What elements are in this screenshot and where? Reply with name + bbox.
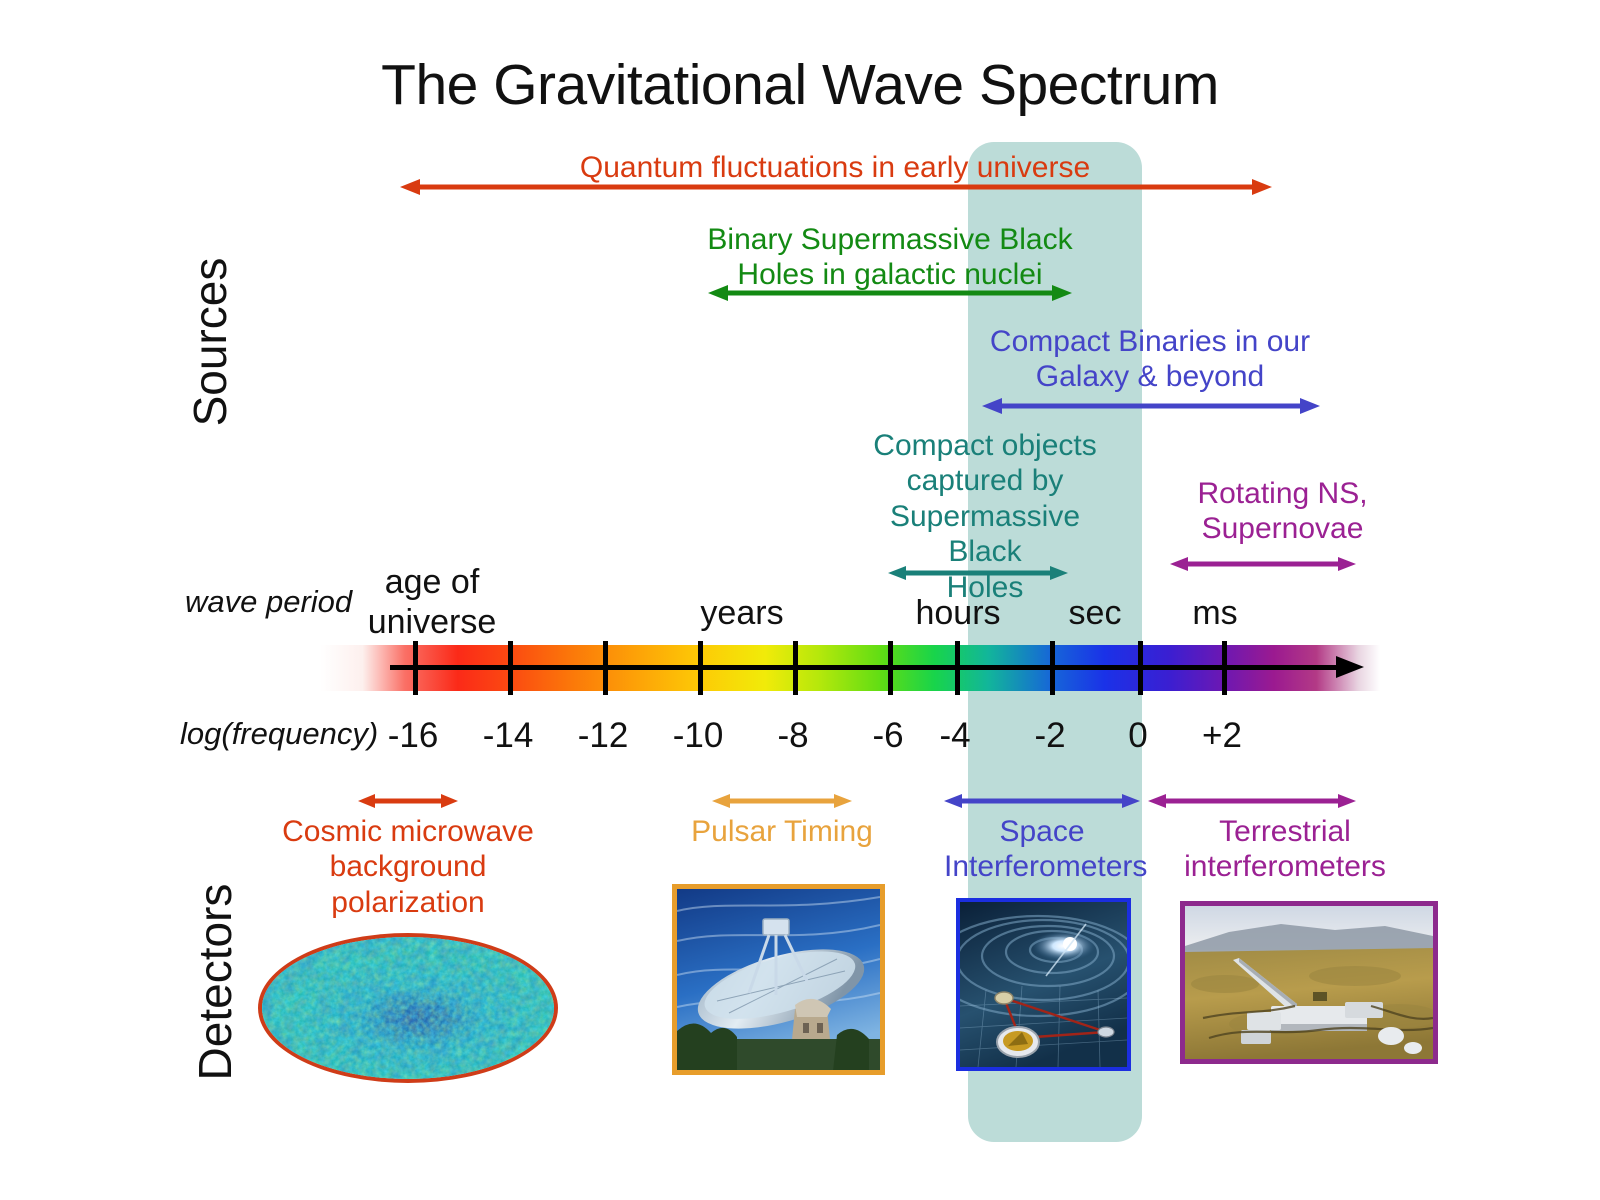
- axis-label-detectors: Detectors: [188, 862, 242, 1102]
- figure-ligo-observatory-photo: [1180, 901, 1438, 1064]
- source-arrow-rotating-ns: [1170, 553, 1356, 575]
- source-arrow-quantum-fluctuations: [400, 176, 1272, 198]
- period-label-years: years: [672, 594, 812, 633]
- detector-label-pulsar-timing: Pulsar Timing: [660, 814, 904, 849]
- tick-label-neg8: -8: [743, 716, 843, 756]
- period-label-age-of-universe: age of universe: [362, 562, 502, 642]
- tick-label-neg12: -12: [553, 716, 653, 756]
- source-arrow-compact-binaries: [982, 395, 1320, 417]
- source-arrow-binary-smbh: [708, 282, 1072, 304]
- figure-cmb-allsky-map: [258, 933, 558, 1083]
- tick-label-neg14: -14: [458, 716, 558, 756]
- tick-label-neg4: -4: [905, 716, 1005, 756]
- log-frequency-caption: log(frequency): [180, 716, 370, 752]
- detector-arrow-cmb: [358, 790, 458, 812]
- ligo-observatory-image: [1185, 906, 1433, 1059]
- radio-telescope-image: [677, 889, 880, 1070]
- detector-label-terrestrial-interferometers: Terrestrial interferometers: [1160, 814, 1410, 885]
- detector-label-space-interferometers: Space Interferometers: [944, 814, 1140, 885]
- axis-arrow-head: [1330, 654, 1364, 680]
- source-label-compact-binaries: Compact Binaries in our Galaxy & beyond: [985, 324, 1315, 395]
- period-label-ms: ms: [1155, 594, 1275, 633]
- detector-arrow-pulsar-timing: [712, 790, 852, 812]
- tick-label-neg2: -2: [1000, 716, 1100, 756]
- cmb-map-image: [262, 937, 554, 1079]
- detector-arrow-space-interferometers: [944, 790, 1140, 812]
- detector-arrow-terrestrial-interferometers: [1148, 790, 1356, 812]
- tick-label-neg16: -16: [363, 716, 463, 756]
- diagram-canvas: The Gravitational Wave Spectrum Sources …: [0, 0, 1600, 1200]
- source-arrow-emri: [888, 562, 1068, 584]
- tick-label-pos2: +2: [1172, 716, 1272, 756]
- lisa-illustration-image: [960, 902, 1127, 1067]
- detector-label-cmb: Cosmic microwave background polarization: [272, 814, 544, 920]
- tick-label-neg10: -10: [648, 716, 748, 756]
- frequency-axis-line: [390, 665, 1355, 670]
- source-label-rotating-ns: Rotating NS, Supernovae: [1175, 476, 1390, 547]
- page-title: The Gravitational Wave Spectrum: [0, 52, 1600, 118]
- figure-radio-telescope-photo: [672, 884, 885, 1075]
- axis-label-sources: Sources: [183, 242, 237, 442]
- wave-period-caption: wave period: [185, 584, 355, 620]
- figure-lisa-spacecraft-illustration: [956, 898, 1131, 1071]
